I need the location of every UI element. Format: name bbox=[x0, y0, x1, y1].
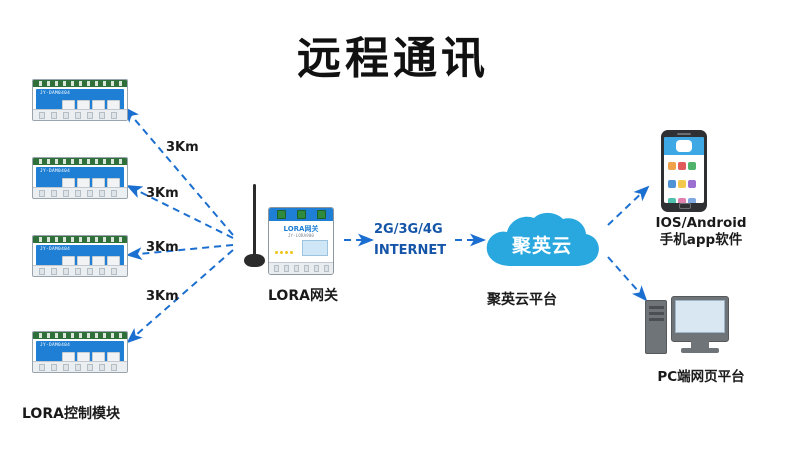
link-label-internet: INTERNET bbox=[374, 243, 446, 258]
phone-speaker bbox=[677, 133, 691, 135]
gateway-antenna-icon bbox=[242, 184, 266, 284]
link-cloud-to-pc bbox=[608, 257, 646, 300]
phone-app-header bbox=[664, 137, 704, 155]
module-terminal-strip bbox=[33, 236, 127, 243]
link-module-1 bbox=[125, 108, 233, 235]
lora-module-2: JY-DAM0404 bbox=[32, 157, 128, 199]
pc-screen bbox=[675, 300, 725, 333]
module-brand-text: JY-DAM0404 bbox=[40, 169, 70, 174]
cloud-platform-node: 聚英云 bbox=[481, 210, 603, 272]
phone-app-grid bbox=[668, 160, 700, 203]
gateway-leds bbox=[275, 241, 295, 259]
module-antenna-icon bbox=[127, 248, 128, 262]
lora-gateway-device: LORA网关 JY-LORA900 bbox=[268, 207, 334, 279]
link-label-3km-1: 3Km bbox=[166, 140, 199, 155]
module-brand-text: JY-DAM0404 bbox=[40, 343, 70, 348]
phone-app-label-line1: IOS/Android bbox=[655, 215, 746, 231]
pc-platform-label: PC端网页平台 bbox=[631, 365, 771, 385]
module-brand-text: JY-DAM0404 bbox=[40, 247, 70, 252]
page-title: 远程通讯 bbox=[0, 22, 786, 86]
module-board: JY-DAM0404 bbox=[36, 341, 124, 362]
pc-device bbox=[645, 296, 729, 364]
lora-modules-label: LORA控制模块 bbox=[22, 403, 120, 423]
module-brand-text: JY-DAM0404 bbox=[40, 91, 70, 96]
phone-app-label: IOS/Android 手机app软件 bbox=[641, 215, 761, 249]
module-terminal-strip bbox=[33, 158, 127, 165]
gateway-top-panel bbox=[269, 208, 333, 221]
link-module-2 bbox=[128, 186, 233, 238]
link-label-mobile-network: 2G/3G/4G bbox=[374, 222, 443, 237]
diagram-canvas: 远程通讯 bbox=[0, 0, 786, 451]
cloud-platform-label: 聚英云平台 bbox=[487, 289, 557, 309]
link-module-3 bbox=[128, 245, 233, 255]
pc-tower bbox=[645, 300, 667, 354]
lora-module-1: JY-DAM0404 bbox=[32, 79, 128, 121]
gateway-screen bbox=[302, 240, 328, 256]
module-antenna-icon bbox=[127, 344, 128, 358]
phone-app-label-line2: 手机app软件 bbox=[660, 232, 742, 248]
lora-gateway-label: LORA网关 bbox=[268, 285, 338, 305]
phone-screen bbox=[664, 137, 704, 203]
module-board: JY-DAM0404 bbox=[36, 167, 124, 188]
module-bottom-terminals bbox=[33, 265, 127, 276]
module-terminal-strip bbox=[33, 332, 127, 339]
module-board: JY-DAM0404 bbox=[36, 89, 124, 110]
smartphone-device bbox=[661, 130, 707, 212]
link-label-3km-4: 3Km bbox=[146, 289, 179, 304]
link-label-3km-2: 3Km bbox=[146, 186, 179, 201]
module-terminal-strip bbox=[33, 80, 127, 87]
pc-monitor bbox=[671, 296, 729, 342]
gateway-device-subtitle: JY-LORA900 bbox=[269, 233, 333, 238]
gateway-bottom-terminals bbox=[269, 262, 333, 274]
cloud-name: 聚英云 bbox=[481, 231, 603, 258]
module-antenna-icon bbox=[127, 170, 128, 184]
module-bottom-terminals bbox=[33, 361, 127, 372]
link-label-3km-3: 3Km bbox=[146, 240, 179, 255]
link-module-4 bbox=[128, 250, 233, 342]
module-bottom-terminals bbox=[33, 109, 127, 120]
lora-module-3: JY-DAM0404 bbox=[32, 235, 128, 277]
module-bottom-terminals bbox=[33, 187, 127, 198]
pc-monitor-foot bbox=[681, 348, 719, 353]
module-antenna-icon bbox=[127, 92, 128, 106]
lora-module-4: JY-DAM0404 bbox=[32, 331, 128, 373]
phone-home-button bbox=[679, 203, 691, 209]
module-board: JY-DAM0404 bbox=[36, 245, 124, 266]
